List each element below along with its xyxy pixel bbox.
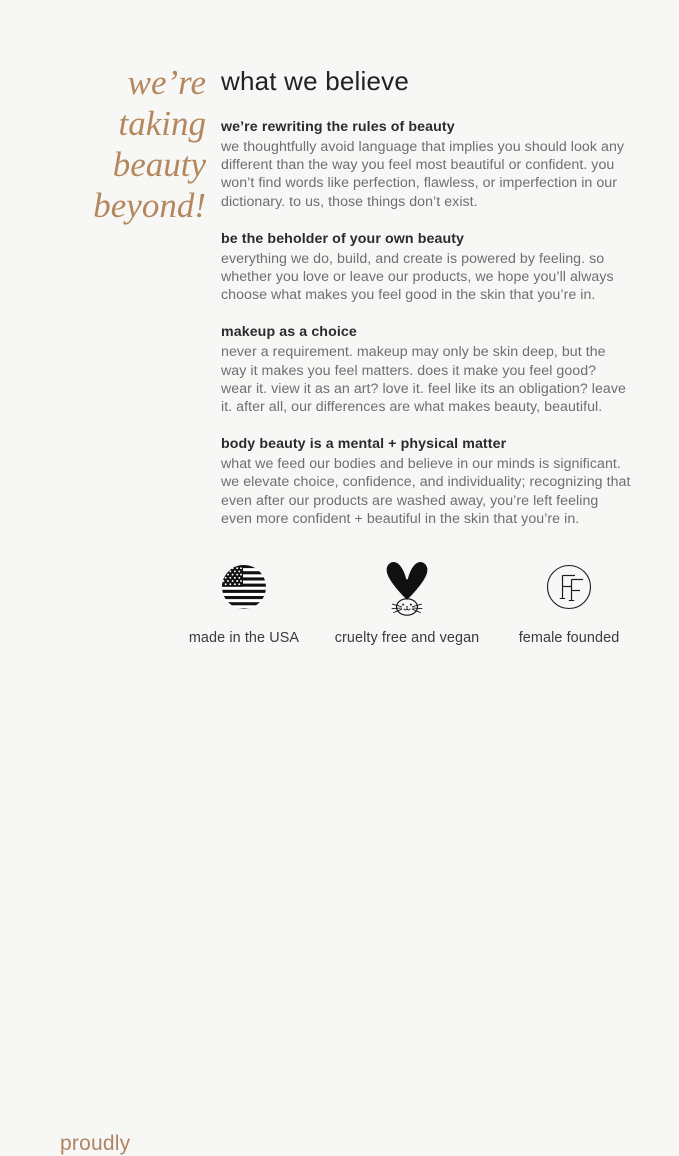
belief-body: never a requirement. makeup may only be …	[221, 343, 631, 416]
bunny-heart-ears-icon	[327, 556, 487, 618]
badge-made-in-usa: made in the USA	[164, 556, 324, 646]
belief-body: everything we do, build, and create is p…	[221, 250, 631, 305]
belief-heading: we’re rewriting the rules of beauty	[221, 118, 631, 137]
badge-cruelty-free-vegan: cruelty free and vegan	[327, 556, 487, 646]
headline-line-4: beyond!	[40, 185, 206, 226]
badge-label: female founded	[489, 630, 649, 646]
proudly-label: proudly	[60, 1132, 130, 1156]
ff-monogram-circle-icon	[489, 556, 649, 618]
badge-label: cruelty free and vegan	[327, 630, 487, 646]
badge-row: proudly	[0, 556, 679, 666]
headline-line-2: taking	[40, 103, 206, 144]
page-title: what we believe	[221, 66, 631, 96]
belief-heading: body beauty is a mental + physical matte…	[221, 435, 631, 454]
badge-female-founded: female founded	[489, 556, 649, 646]
badge-label: made in the USA	[164, 630, 324, 646]
belief-heading: be the beholder of your own beauty	[221, 230, 631, 249]
beliefs-column: what we believe we’re rewriting the rule…	[221, 66, 631, 528]
belief-section: be the beholder of your own beauty every…	[221, 230, 631, 305]
belief-heading: makeup as a choice	[221, 323, 631, 342]
headline-line-3: beauty	[40, 144, 206, 185]
brand-values-page: we’re taking beauty beyond! what we beli…	[0, 0, 679, 679]
belief-body: what we feed our bodies and believe in o…	[221, 455, 631, 528]
belief-section: body beauty is a mental + physical matte…	[221, 435, 631, 528]
belief-section: makeup as a choice never a requirement. …	[221, 323, 631, 416]
usa-flag-circle-icon	[164, 556, 324, 618]
headline-line-1: we’re	[40, 62, 206, 103]
belief-body: we thoughtfully avoid language that impl…	[221, 138, 631, 211]
belief-section: we’re rewriting the rules of beauty we t…	[221, 118, 631, 211]
brand-headline: we’re taking beauty beyond!	[40, 62, 206, 226]
